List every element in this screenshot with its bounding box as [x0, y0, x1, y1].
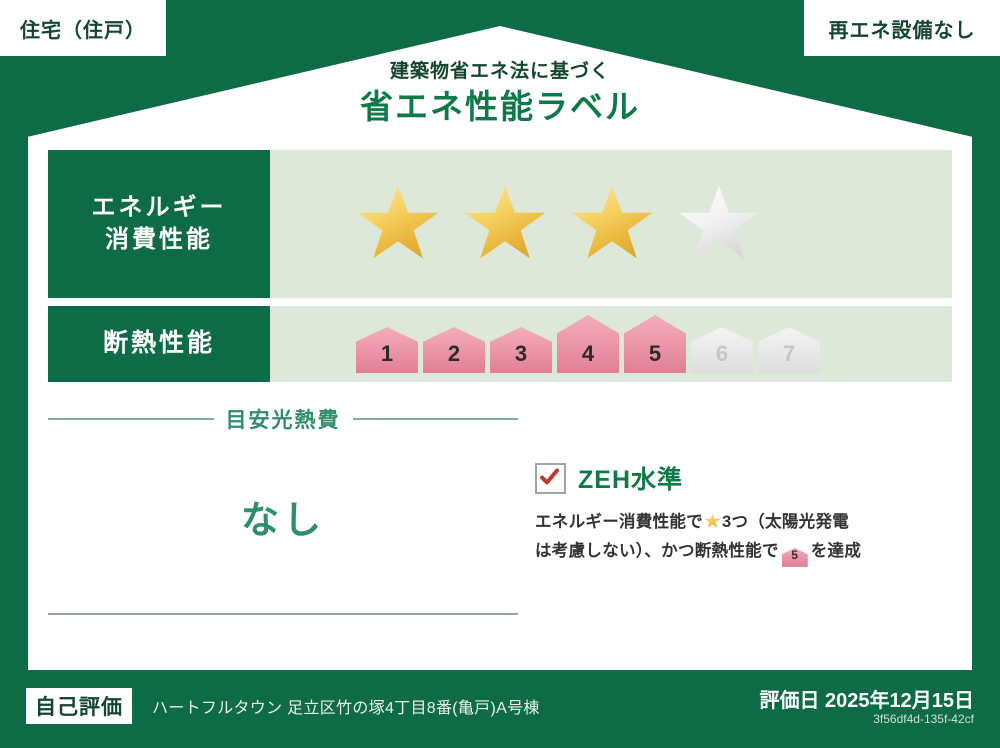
zeh-standard-block: ZEH水準 エネルギー消費性能で3つ（太陽光発電 は考慮しない）、かつ断熱性能で…: [535, 460, 955, 567]
utility-cost-value: なし: [48, 489, 518, 544]
utility-cost-underline: [48, 613, 518, 615]
zeh-checkbox[interactable]: [535, 463, 566, 494]
insulation-performance-row: 断熱性能 1234567: [48, 306, 952, 382]
energy-consumption-label: エネルギー 消費性能: [48, 150, 270, 298]
heading-rule-right: [353, 418, 519, 420]
self-evaluation-badge: 自己評価: [26, 688, 132, 724]
energy-label-line2: 消費性能: [105, 224, 213, 256]
insulation-grade-6: 6: [691, 327, 753, 373]
evaluation-date: 評価日 2025年12月15日: [759, 684, 974, 713]
insulation-grade-7: 7: [758, 327, 820, 373]
insulation-label-text: 断熱性能: [103, 327, 215, 361]
heading-rule-left: [48, 418, 214, 420]
performance-rows: エネルギー 消費性能 断熱性能 1234567: [48, 150, 952, 390]
check-icon: [539, 467, 560, 488]
energy-label-line1: エネルギー: [92, 192, 227, 224]
utility-cost-heading: 目安光熱費: [48, 404, 518, 434]
star-2-on: [463, 184, 547, 264]
utility-cost-heading-text: 目安光熱費: [226, 404, 341, 434]
energy-consumption-row: エネルギー 消費性能: [48, 150, 952, 298]
insulation-scale-body: 1234567: [270, 306, 952, 382]
star-rating: [270, 150, 952, 298]
building-type-tag: 住宅（住戸）: [0, 0, 166, 56]
energy-label-root: 住宅（住戸） 再エネ設備なし 建築物省エネ法に基づく 省エネ性能ラベル エネルギ…: [0, 0, 1000, 748]
inline-star-icon: [704, 513, 721, 529]
zeh-description: エネルギー消費性能で3つ（太陽光発電 は考慮しない）、かつ断熱性能で5を達成: [535, 508, 955, 567]
title-subtitle: 建築物省エネ法に基づく: [0, 62, 1000, 83]
title-main: 省エネ性能ラベル: [0, 89, 1000, 125]
insulation-grade-2: 2: [423, 327, 485, 373]
footer: 自己評価 ハートフルタウン 足立区竹の塚4丁目8番(亀戸)A号棟 評価日 202…: [0, 670, 1000, 748]
insulation-grade-4: 4: [557, 315, 619, 373]
inline-house-badge: 5: [782, 548, 808, 567]
insulation-grade-scale: 1234567: [356, 315, 820, 373]
star-3-on: [570, 184, 654, 264]
page-title: 建築物省エネ法に基づく 省エネ性能ラベル: [0, 62, 1000, 125]
utility-cost-section: 目安光熱費 なし: [48, 404, 518, 544]
insulation-grade-1: 1: [356, 327, 418, 373]
star-4-off: [677, 184, 761, 264]
zeh-title-row: ZEH水準: [535, 460, 955, 496]
evaluation-date-label: 評価日: [759, 690, 819, 712]
zeh-desc-part3: を達成: [811, 542, 861, 560]
zeh-desc-part1: エネルギー消費性能で: [535, 513, 703, 531]
evaluation-date-value: 2025年12月15日: [825, 690, 974, 712]
zeh-title-text: ZEH水準: [578, 460, 683, 496]
renewable-energy-tag: 再エネ設備なし: [804, 0, 1000, 56]
evaluation-id: 3f56df4d-135f-42cf: [873, 712, 974, 726]
zeh-desc-part2: は考慮しない）、かつ断熱性能で: [535, 542, 779, 560]
insulation-performance-label: 断熱性能: [48, 306, 270, 382]
property-name: ハートフルタウン 足立区竹の塚4丁目8番(亀戸)A号棟: [152, 694, 540, 718]
star-1-on: [356, 184, 440, 264]
zeh-desc-star-count: 3つ（太陽光発電: [722, 513, 849, 531]
insulation-grade-3: 3: [490, 327, 552, 373]
insulation-grade-5: 5: [624, 315, 686, 373]
